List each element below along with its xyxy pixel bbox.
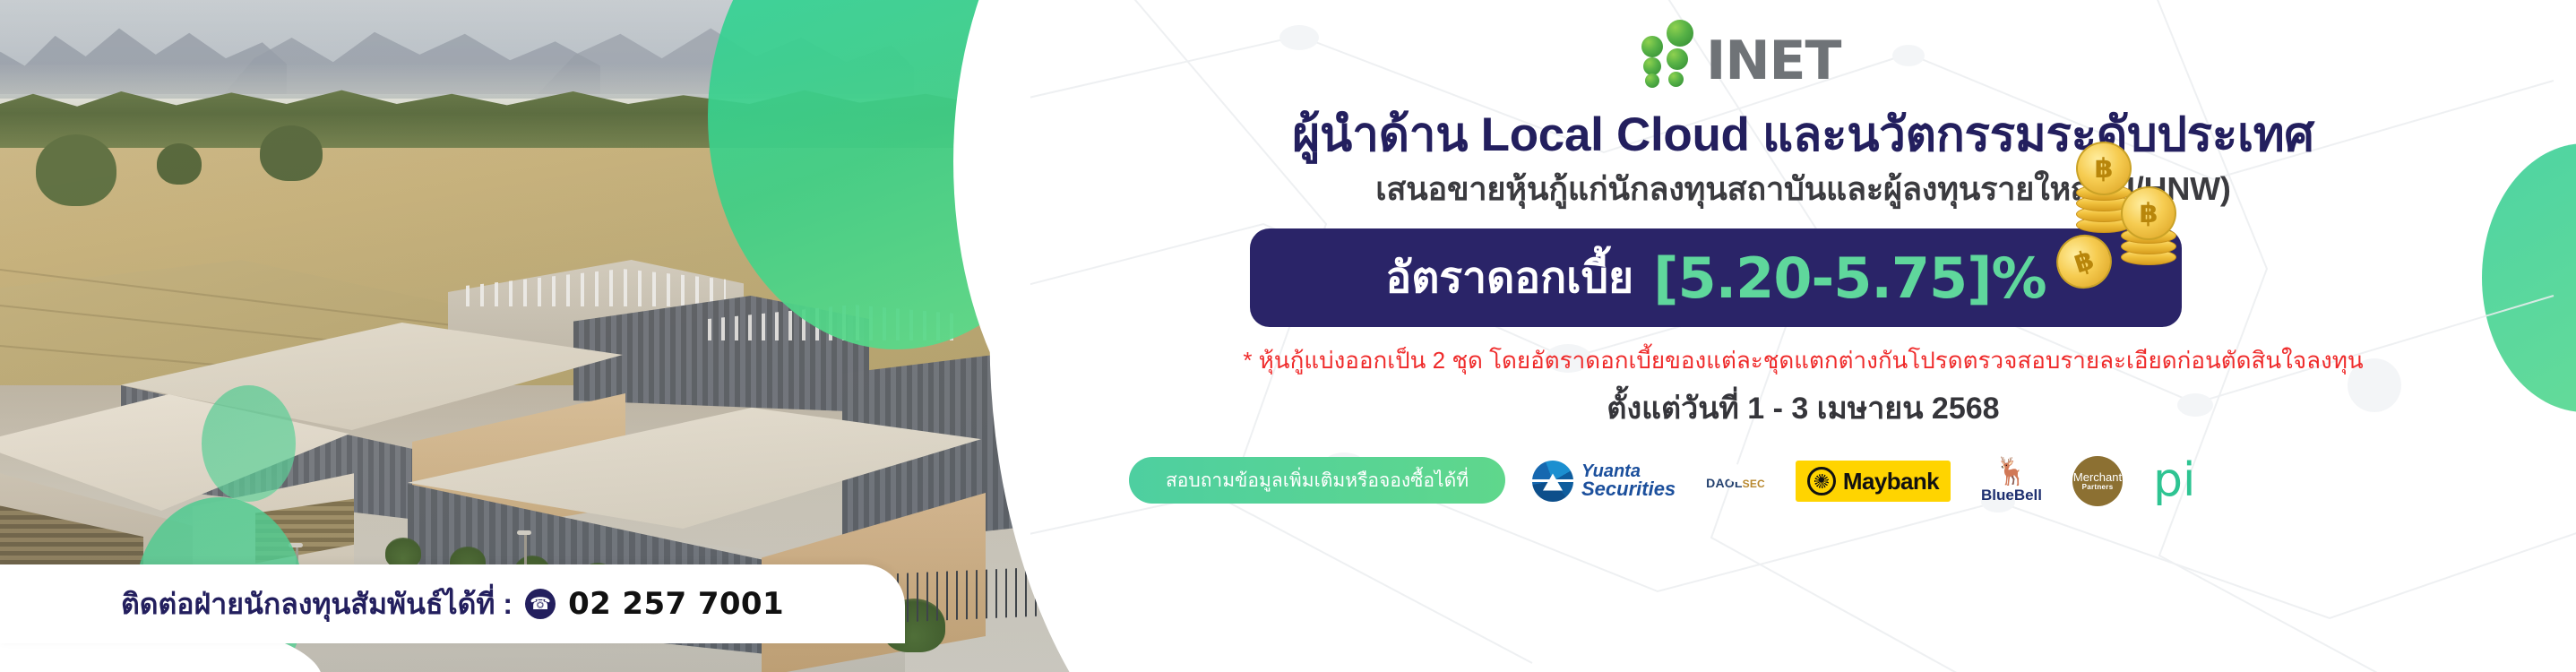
interest-rate-box: อัตราดอกเบี้ย [5.20-5.75]% <box>1250 228 2182 327</box>
merchant-line2: Partners <box>2082 483 2114 491</box>
disclaimer-note: * หุ้นกู้แบ่งออกเป็น 2 ชุด โดยอัตราดอกเบ… <box>1030 342 2576 379</box>
contact-label: ติดต่อฝ่ายนักลงทุนสัมพันธ์ได้ที่ : <box>121 582 513 627</box>
coin-face: ฿ <box>2121 186 2176 240</box>
inet-dots-icon <box>1640 18 1702 86</box>
partner-logo-daol[interactable]: DAOLSEC <box>1706 473 1765 490</box>
deer-icon: 🦌 <box>1981 459 2042 486</box>
right-content-panel: INET ผู้นำด้าน Local Cloud และนวัตกรรมระ… <box>1030 0 2576 672</box>
inet-logo: INET <box>1640 16 1926 86</box>
merchant-circle-icon: Merchant Partners <box>2072 456 2123 506</box>
yuanta-star-icon <box>1532 461 1573 502</box>
partner-logo-merchant[interactable]: Merchant Partners <box>2072 456 2123 506</box>
interest-rate-label: อัตราดอกเบี้ย <box>1385 244 1633 312</box>
partner-logo-yuanta[interactable]: Yuanta Securities <box>1532 461 1676 502</box>
yuanta-line2: Securities <box>1581 480 1676 499</box>
tree <box>260 125 323 181</box>
light-pole <box>289 543 303 547</box>
palm-tree <box>385 538 421 568</box>
daol-line2: SEC <box>1743 478 1765 490</box>
page-subheadline: เสนอขายหุ้นกู้แก่นักลงทุนสถาบันและผู้ลงท… <box>1030 163 2576 214</box>
contact-box: ติดต่อฝ่ายนักลงทุนสัมพันธ์ได้ที่ : ☎ 02 … <box>0 564 905 643</box>
merchant-line1: Merchant <box>2073 471 2122 484</box>
maybank-tiger-icon <box>1807 467 1836 495</box>
offering-dates: ตั้งแต่วันที่ 1 - 3 เมษายน 2568 <box>1030 383 2576 432</box>
inet-logo-text: INET <box>1706 37 1840 86</box>
partner-logos: Yuanta Securities DAOLSEC Maybank 🦌 <box>1532 441 2563 521</box>
partner-logo-maybank[interactable]: Maybank <box>1796 461 1951 502</box>
phone-icon: ☎ <box>525 589 556 619</box>
page-headline: ผู้นำด้าน Local Cloud และนวัตกรรมระดับปร… <box>1030 97 2576 172</box>
tree <box>36 134 116 206</box>
pi-label: pi <box>2153 462 2195 500</box>
maybank-label: Maybank <box>1843 468 1939 495</box>
tree <box>157 143 202 185</box>
partner-logo-bluebell[interactable]: 🦌 BlueBell <box>1981 459 2042 504</box>
interest-rate-value: [5.20-5.75]% <box>1653 246 2046 311</box>
gold-coins-icon: ฿ ฿ ฿ <box>2056 159 2191 285</box>
contact-phone-number[interactable]: 02 257 7001 <box>568 586 784 622</box>
promotional-banner: INET ผู้นำด้าน Local Cloud และนวัตกรรมระ… <box>0 0 2576 672</box>
bluebell-label: BlueBell <box>1981 487 2042 504</box>
light-pole <box>517 530 531 535</box>
cta-button[interactable]: สอบถามข้อมูลเพิ่มเติมหรือจองซื้อได้ที่ <box>1129 457 1505 504</box>
partner-logo-pi[interactable]: pi <box>2153 462 2195 500</box>
coin-face: ฿ <box>2076 142 2132 195</box>
